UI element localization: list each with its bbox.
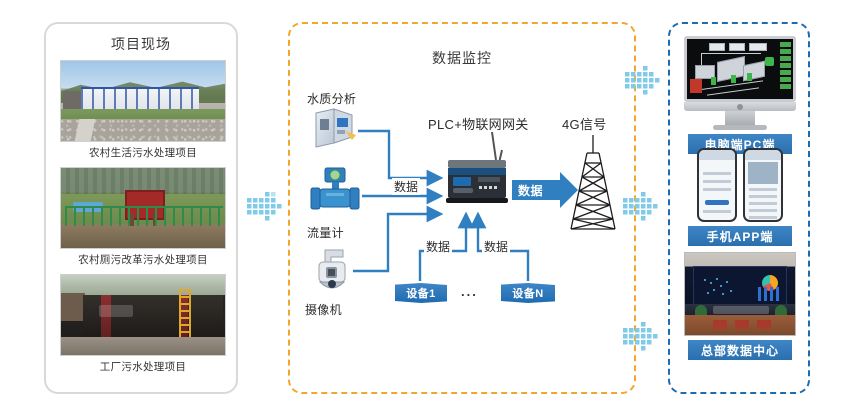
plc-gateway-icon <box>444 130 512 210</box>
edge-label-gateway-data: 数据 <box>518 182 543 199</box>
cell-tower-icon <box>565 133 621 233</box>
data-center-photo <box>684 252 796 336</box>
smartphone-pair-icon <box>684 148 796 222</box>
device-flag-1[interactable]: 设备1 <box>395 283 447 303</box>
sensor-label-camera: 摄像机 <box>305 301 342 318</box>
water-quality-analyzer-icon <box>312 107 358 149</box>
photo-caption: 农村厕污改革污水处理项目 <box>60 249 226 271</box>
photo-caption: 农村生活污水处理项目 <box>60 142 226 164</box>
signal-label: 4G信号 <box>562 114 607 133</box>
terminal-pc[interactable]: 电脑端PC端 <box>680 36 800 154</box>
list-item[interactable]: 农村生活污水处理项目 <box>60 60 226 164</box>
dot-arrow-middle-to-right-3 <box>622 314 662 358</box>
dot-arrow-middle-to-right-2 <box>622 184 662 228</box>
list-item[interactable]: 工厂污水处理项目 <box>60 274 226 378</box>
dot-arrow-left-to-middle <box>246 184 286 228</box>
imac-monitor-icon <box>684 36 796 130</box>
list-item[interactable]: 农村厕污改革污水处理项目 <box>60 167 226 271</box>
left-panel-title: 项目现场 <box>46 34 236 54</box>
terminal-caption-app: 手机APP端 <box>688 226 792 246</box>
sensor-label-flow-meter: 流量计 <box>307 224 344 241</box>
device-flag-label: 设备1 <box>406 285 436 301</box>
sensor-label-water-quality: 水质分析 <box>307 90 356 107</box>
edge-label-sensors-data: 数据 <box>392 178 420 195</box>
edge-label-device1-data: 数据 <box>424 238 452 255</box>
flow-meter-icon <box>308 166 362 218</box>
edge-label-devicen-data: 数据 <box>482 238 510 255</box>
terminal-caption-data-center: 总部数据中心 <box>688 340 792 360</box>
photo-rural-domestic-sewage <box>60 60 226 142</box>
project-site-panel: 项目现场 农村生活污水处理项目 <box>44 22 238 394</box>
device-flag-label: 设备N <box>512 285 543 301</box>
project-site-list: 农村生活污水处理项目 农村厕污改革污水处理项目 <box>60 60 226 381</box>
camera-icon <box>313 248 353 296</box>
terminal-data-center[interactable]: 总部数据中心 <box>680 252 800 360</box>
output-terminals-panel: 电脑端PC端 <box>668 22 810 394</box>
photo-factory-sewage <box>60 274 226 356</box>
middle-panel-title: 数据监控 <box>290 48 634 68</box>
dot-arrow-middle-to-right-1 <box>624 58 664 102</box>
device-ellipsis: ... <box>461 284 478 299</box>
photo-rural-toilet-reform <box>60 167 226 249</box>
terminal-mobile-app[interactable]: 手机APP端 <box>680 148 800 246</box>
photo-caption: 工厂污水处理项目 <box>60 356 226 378</box>
device-flag-n[interactable]: 设备N <box>501 283 555 303</box>
diagram-canvas: 项目现场 农村生活污水处理项目 <box>0 0 850 416</box>
